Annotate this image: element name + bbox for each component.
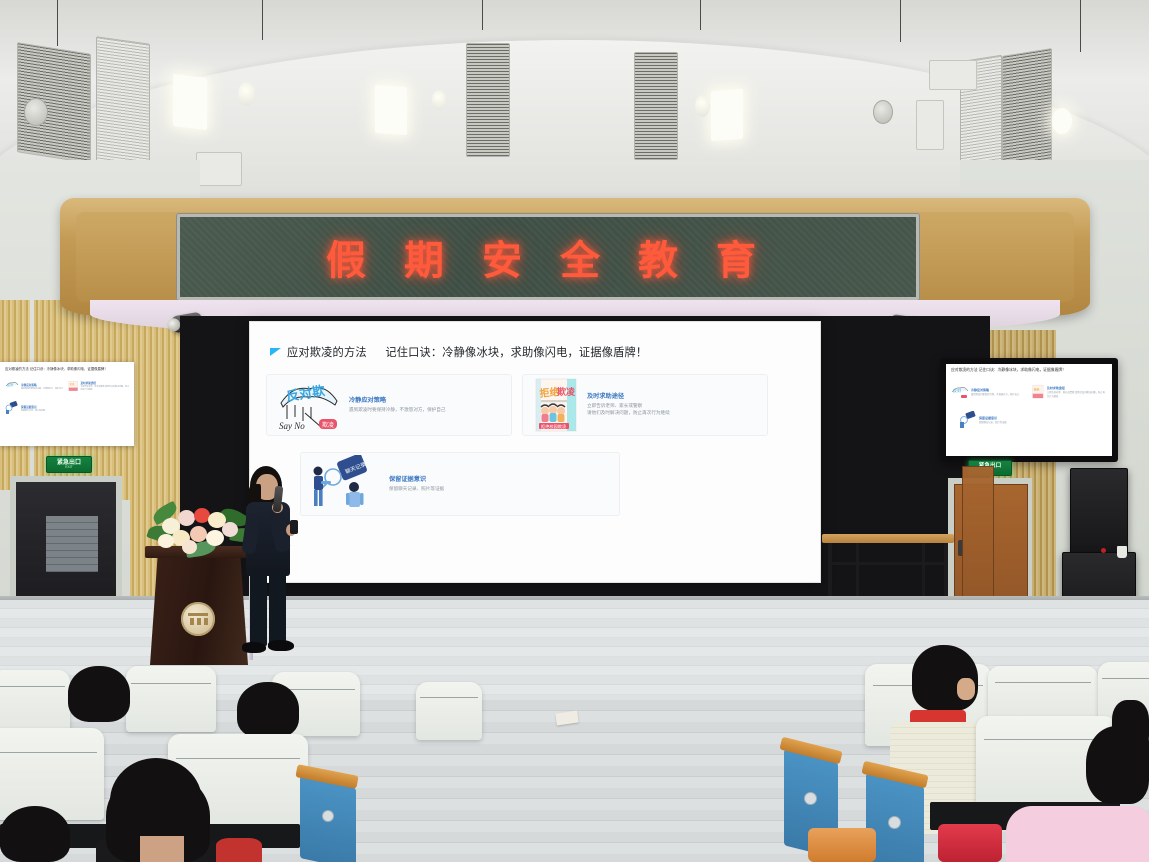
slide-title-row: 应对欺凌的方法 记住口诀：冷静像冰块，求助像闪电，证据像盾牌！ [270, 344, 804, 360]
student-right-pink-body [1006, 806, 1149, 862]
card-description: 立即告诉老师、家长或警察 请他们及时解决问题，防止再次行为继续 [587, 403, 759, 416]
folding-table-leg [922, 543, 925, 601]
left-side-screen[interactable]: 应对欺凌的方法 记住口诀：冷静像冰块，求助像闪电，证据像盾牌！ 反对 冷静应对策… [0, 362, 134, 446]
ceiling-light-panel [173, 74, 207, 130]
side-title-body: 记住口诀：冷静像冰块，求助像闪电，证据像盾牌！ [30, 367, 108, 371]
led-banner-screen: 假 期 安 全 教 育 [180, 217, 916, 297]
ceiling-cable [1080, 0, 1081, 52]
card-text: 冷静应对策略 遇到欺凌时要保持冷静，不激怒对方，保护自己 [349, 397, 503, 414]
anti-bullying-poster-illustration: 拒绝 欺凌 [531, 377, 581, 433]
side-card-desc: 保留聊天记录、照片等证据 [979, 420, 1007, 424]
ceiling-cable [57, 0, 58, 46]
side-card-calm: 反对 冷静应对策略 遇到欺凌时要保持冷静，不激怒对方，保护自己 [951, 383, 1025, 401]
side-screen-title: 应对欺凌的方法 记住口诀：冷静像冰块，求助像闪电，证据像盾牌！ [5, 366, 129, 371]
seat-side-bolt-icon [804, 792, 817, 805]
side-card-desc: 遇到欺凌时要保持冷静，不激怒对方，保护自己 [971, 392, 1019, 396]
side-card-help: 拒绝 及时求助途径 立即告诉老师、家长或警察 请他们及时解决问题，防止再次行为继… [68, 379, 129, 393]
side-card-help: 拒绝 及时求助途径 立即告诉老师、家长或警察 请他们及时解决问题，防止再次行为继… [1031, 383, 1107, 401]
svg-text:拒绝: 拒绝 [70, 382, 75, 386]
ceiling-air-vent [634, 52, 678, 160]
say-no-icon: 反对 [951, 384, 969, 400]
ceiling-air-vent [466, 43, 510, 157]
right-speaker-top [1070, 468, 1128, 554]
slide-title-body: 记住口诀：冷静像冰块，求助像闪电，证据像盾牌！ [385, 347, 647, 359]
student-right-back-hair [1112, 700, 1149, 748]
triangle-marker-icon [270, 348, 281, 356]
ceiling-downlight [238, 82, 255, 106]
slide-card-grid: 反对欺 Say No 欺凌 冷静应对策略 遇到欺凌时要保持冷静，不激怒对方，保护… [266, 374, 804, 516]
school-crest-emblem [181, 602, 215, 636]
speaker-cup-object [1117, 546, 1127, 558]
side-card-desc: 保留聊天记录、照片等证据 [21, 409, 45, 412]
folding-table-leg [856, 543, 859, 601]
ceiling-light-panel [375, 85, 407, 135]
slide-card-seek-help[interactable]: 拒绝 欺凌 [522, 374, 768, 436]
presenter-leg-left [250, 572, 267, 646]
left-exit-sign: 紧急出口 EXIT [46, 456, 92, 473]
side-title-prefix: 应对欺凌的方法 [5, 367, 29, 371]
evidence-icon [959, 411, 977, 429]
say-no-icon: 反对欺 Say No 欺凌 [275, 377, 343, 433]
red-backpack [938, 824, 1002, 862]
presentation-slide: 应对欺凌的方法 记住口诀：冷静像冰块，求助像闪电，证据像盾牌！ 反对欺 Say [250, 322, 820, 582]
seat-side-bolt-icon [322, 810, 334, 822]
presenter-phone [290, 520, 298, 534]
folding-table-brace [830, 562, 946, 565]
svg-text:Say No: Say No [279, 421, 305, 431]
left-wall-stone-panel [46, 516, 98, 572]
folding-table-top [822, 534, 954, 543]
auditorium-photo: 假 期 安 全 教 育 应对欺凌的方法 记住口诀：冷静像冰块，求助像闪电，证据像… [0, 0, 1149, 862]
presenter [236, 466, 306, 662]
slide-title-prefix: 应对欺凌的方法 [287, 347, 367, 359]
svg-text:拒绝校园欺凌: 拒绝校园欺凌 [541, 423, 567, 430]
student-right-sweater-face [957, 678, 975, 700]
speaker-indicator-icon [1101, 548, 1106, 553]
ceiling-light-panel [1052, 108, 1072, 134]
side-card-calm: 反对 冷静应对策略 遇到欺凌时要保持冷静，不激怒对方，保护自己 [5, 379, 64, 393]
ceiling-air-vent [1002, 48, 1052, 174]
evidence-phone-illustration: 聊天记录 [309, 455, 383, 513]
svg-text:反对: 反对 [953, 387, 961, 393]
svg-text:拒绝: 拒绝 [1034, 386, 1040, 391]
slide-title: 应对欺凌的方法 记住口诀：冷静像冰块，求助像闪电，证据像盾牌！ [287, 344, 647, 360]
card-text: 保留证据意识 保留聊天记录、照片等证据 [389, 476, 611, 493]
card-description: 保留聊天记录、照片等证据 [389, 486, 611, 493]
say-no-icon: 反对 [5, 380, 19, 392]
exit-sign-text-en: EXIT [65, 466, 73, 469]
ceiling-cable [900, 0, 901, 42]
right-side-screen[interactable]: 应对欺凌的方法 记住口诀：冷静像冰块，求助像闪电，证据像盾牌！ 反对 冷静应对策… [946, 364, 1112, 456]
svg-text:反对欺: 反对欺 [285, 383, 326, 404]
ceiling-cable [482, 0, 483, 30]
ceiling-speaker [24, 98, 48, 126]
poster-icon: 拒绝 [68, 379, 78, 393]
card-description: 遇到欺凌时要保持冷静，不激怒对方，保护自己 [349, 407, 503, 414]
presenter-shoe-right [268, 640, 294, 651]
ceiling-access-panel [916, 100, 944, 150]
slide-card-row-bottom: 聊天记录 [266, 452, 804, 516]
led-banner-text: 假 期 安 全 教 育 [326, 228, 770, 286]
card-heading: 冷静应对策略 [349, 397, 503, 405]
right-side-screen-content: 应对欺凌的方法 记住口诀：冷静像冰块，求助像闪电，证据像盾牌！ 反对 冷静应对策… [946, 364, 1112, 456]
ceiling-cable [700, 0, 701, 30]
orange-backpack [808, 828, 876, 862]
slide-card-row-top: 反对欺 Say No 欺凌 冷静应对策略 遇到欺凌时要保持冷静，不激怒对方，保护… [266, 374, 804, 436]
seat-back-cover [126, 666, 216, 732]
main-projection-screen[interactable]: 应对欺凌的方法 记住口诀：冷静像冰块，求助像闪电，证据像盾牌！ 反对欺 Say [250, 322, 820, 582]
seat-row-mid-left [0, 728, 560, 838]
say-no-to-bullying-illustration: 反对欺 Say No 欺凌 [275, 377, 343, 433]
slide-card-calm-response[interactable]: 反对欺 Say No 欺凌 冷静应对策略 遇到欺凌时要保持冷静，不激怒对方，保护… [266, 374, 512, 436]
crest-mark-icon [188, 613, 208, 625]
side-card-evidence: 保留证据意识 保留聊天记录、照片等证据 [959, 411, 1049, 429]
student-left-3-hair [0, 806, 70, 862]
ceiling-cable [262, 0, 263, 40]
poster-icon: 拒绝 欺凌 [531, 377, 581, 433]
svg-text:欺凌: 欺凌 [322, 421, 334, 429]
ceiling-air-vent [96, 36, 150, 172]
student-foreground-neck [140, 836, 184, 862]
side-title-body: 记住口诀：冷静像冰块，求助像闪电，证据像盾牌！ [979, 368, 1066, 372]
side-card-desc: 遇到欺凌时要保持冷静，不激怒对方，保护自己 [21, 387, 63, 390]
poster-icon: 拒绝 [1031, 383, 1045, 401]
student-red-shirt [216, 838, 262, 862]
left-side-screen-content: 应对欺凌的方法 记住口诀：冷静像冰块，求助像闪电，证据像盾牌！ 反对 冷静应对策… [0, 362, 134, 446]
ceiling-access-panel [196, 152, 242, 186]
presenter-shoe-left [242, 642, 266, 653]
side-screen-title: 应对欺凌的方法 记住口诀：冷静像冰块，求助像闪电，证据像盾牌！ [951, 368, 1107, 373]
svg-text:反对: 反对 [7, 382, 13, 387]
svg-text:欺凌: 欺凌 [557, 386, 576, 397]
student-left-1-hair [68, 666, 130, 722]
seat-back-cover [0, 728, 104, 820]
slide-card-keep-evidence[interactable]: 聊天记录 [300, 452, 620, 516]
card-heading: 及时求助途径 [587, 393, 759, 401]
side-card-desc: 立即告诉老师、家长或警察 请他们及时解决问题，防止再次行为继续 [1047, 390, 1107, 398]
evidence-icon [5, 401, 19, 415]
card-text: 及时求助途径 立即告诉老师、家长或警察 请他们及时解决问题，防止再次行为继续 [587, 393, 759, 416]
side-card-desc: 立即告诉老师、家长或警察 请他们及时解决问题，防止再次行为继续 [80, 385, 129, 391]
ceiling-downlight [432, 90, 446, 110]
evidence-icon: 聊天记录 [309, 455, 383, 513]
card-heading: 保留证据意识 [389, 476, 611, 484]
ceiling-downlight [695, 95, 710, 117]
ceiling-light-panel [711, 89, 743, 141]
ceiling-speaker [873, 100, 893, 124]
led-banner-frame: 假 期 安 全 教 育 [176, 213, 920, 301]
presenter-leg-right [269, 572, 286, 646]
side-card-evidence: 保留证据意识 保留聊天记录、照片等证据 [5, 401, 75, 415]
side-title-prefix: 应对欺凌的方法 [951, 368, 978, 372]
seat-back-cover [0, 670, 70, 732]
seat-side-bolt-icon [888, 816, 901, 829]
ceiling-access-panel [929, 60, 977, 90]
